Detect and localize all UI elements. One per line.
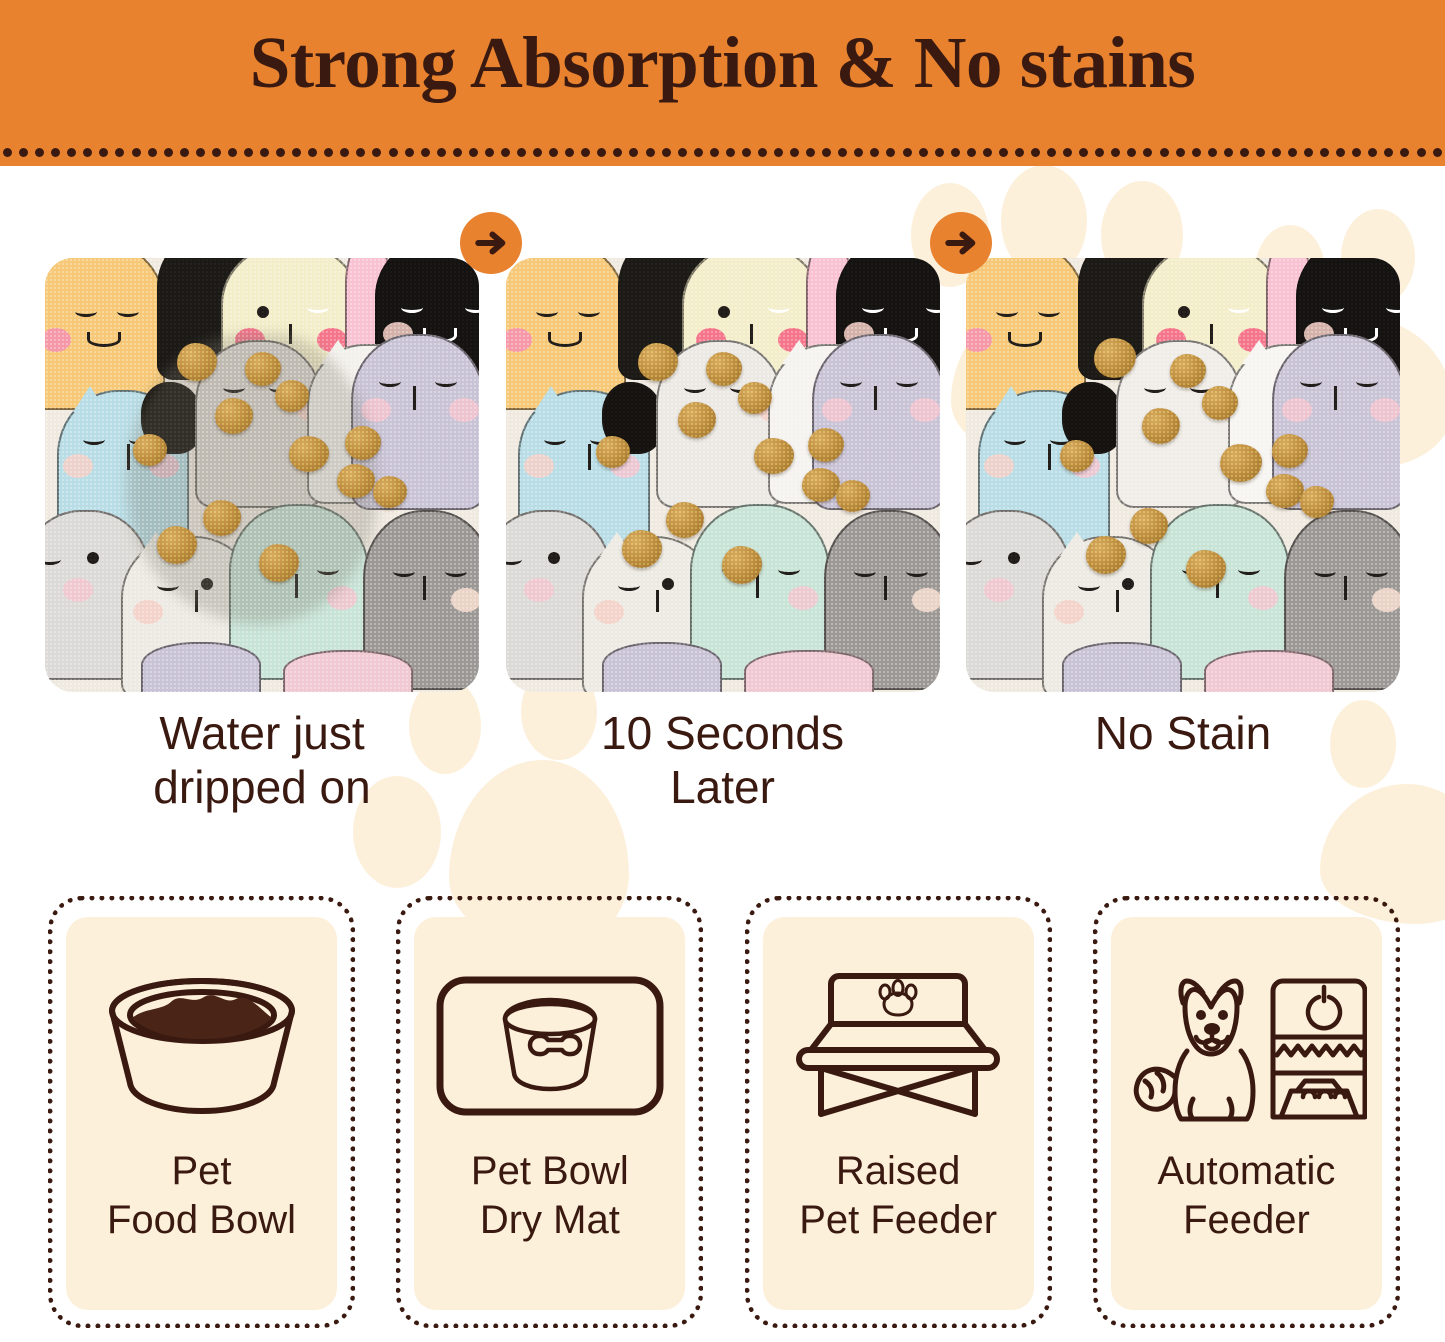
feature-card-label: Automatic Feeder (1158, 1147, 1336, 1245)
label-line: Dry Mat (471, 1196, 629, 1245)
label-line: Automatic (1158, 1147, 1336, 1196)
absorption-demo-strip (45, 258, 1400, 692)
raised-pet-feeder-icon (785, 951, 1011, 1141)
label-line: Feeder (1158, 1196, 1336, 1245)
dotted-divider-icon (0, 146, 1445, 160)
feature-card-label: Raised Pet Feeder (799, 1147, 997, 1245)
demo-photo-step-1 (45, 258, 479, 692)
caption-line: Later (506, 760, 940, 814)
feature-cards: Pet Food Bowl (48, 896, 1400, 1328)
demo-photo-step-2 (506, 258, 940, 692)
demo-caption-step-2: 10 Seconds Later (506, 706, 940, 826)
demo-captions: Water just dripped on 10 Seconds Later N… (45, 706, 1400, 826)
arrow-right-icon (930, 212, 992, 274)
demo-caption-step-3: No Stain (966, 706, 1400, 826)
feature-card-pet-bowl-dry-mat[interactable]: Pet Bowl Dry Mat (396, 896, 703, 1328)
automatic-feeder-icon (1125, 951, 1367, 1141)
label-line: Pet (107, 1147, 296, 1196)
demo-photo-step-3 (966, 258, 1400, 692)
header-banner: Strong Absorption & No stains (0, 0, 1445, 166)
feature-card-label: Pet Food Bowl (107, 1147, 296, 1245)
feature-card-pet-food-bowl[interactable]: Pet Food Bowl (48, 896, 355, 1328)
infographic-page: Strong Absorption & No stains (0, 0, 1445, 1342)
feature-card-raised-pet-feeder[interactable]: Raised Pet Feeder (745, 896, 1052, 1328)
pet-food-bowl-icon (96, 951, 308, 1141)
caption-line: Water just (45, 706, 479, 760)
caption-line: 10 Seconds (506, 706, 940, 760)
feature-card-automatic-feeder[interactable]: Automatic Feeder (1093, 896, 1400, 1328)
feature-card-label: Pet Bowl Dry Mat (471, 1147, 629, 1245)
demo-caption-step-1: Water just dripped on (45, 706, 479, 826)
page-title: Strong Absorption & No stains (0, 26, 1445, 99)
arrow-right-icon (460, 212, 522, 274)
pet-bowl-dry-mat-icon (435, 951, 665, 1141)
caption-line: dripped on (45, 760, 479, 814)
label-line: Pet Bowl (471, 1147, 629, 1196)
label-line: Raised (799, 1147, 997, 1196)
label-line: Food Bowl (107, 1196, 296, 1245)
label-line: Pet Feeder (799, 1196, 997, 1245)
caption-line: No Stain (966, 706, 1400, 760)
